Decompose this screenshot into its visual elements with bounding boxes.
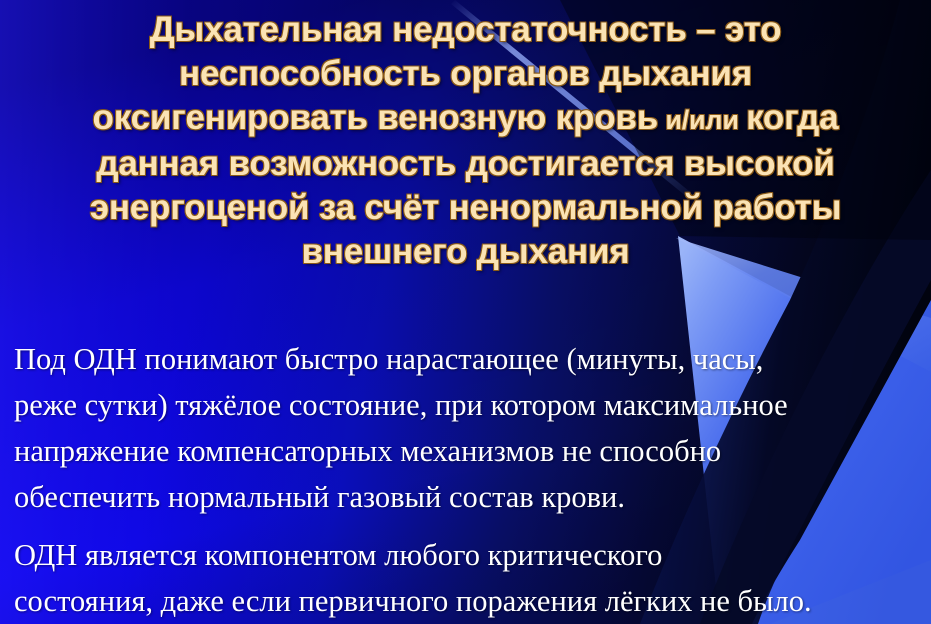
title-line-3-tail: когда	[746, 98, 838, 137]
body-line-4: обеспечить нормальный газовый состав кро…	[14, 474, 922, 520]
title-line-2: неспособность органов дыхания	[0, 52, 931, 96]
title-line-4: данная возможность достигается высокой	[0, 142, 931, 186]
slide-title: Дыхательная недостаточность – это неспос…	[0, 8, 931, 274]
slide-content: Дыхательная недостаточность – это неспос…	[0, 0, 931, 624]
body-line-2: реже сутки) тяжёлое состояние, при котор…	[14, 382, 922, 428]
title-line-3-main: оксигенировать венозную кровь	[93, 98, 658, 137]
body-paragraph-2: ОДН является компонентом любого критичес…	[14, 532, 922, 624]
title-line-6: внешнего дыхания	[0, 230, 931, 274]
body-line-5: ОДН является компонентом любого критичес…	[14, 532, 922, 578]
title-line-5: энергоценой за счёт ненормальной работы	[0, 186, 931, 230]
title-line-1: Дыхательная недостаточность – это	[0, 8, 931, 52]
body-line-6: состояния, даже если первичного поражени…	[14, 578, 922, 624]
title-line-3: оксигенировать венозную кровь и/или когд…	[0, 96, 931, 142]
presentation-slide: Дыхательная недостаточность – это неспос…	[0, 0, 931, 624]
title-line-3-small: и/или	[658, 105, 746, 135]
body-line-1: Под ОДН понимают быстро нарастающее (мин…	[14, 336, 922, 382]
body-paragraph-1: Под ОДН понимают быстро нарастающее (мин…	[14, 336, 922, 520]
slide-body: Под ОДН понимают быстро нарастающее (мин…	[14, 336, 922, 624]
body-line-3: напряжение компенсаторных механизмов не …	[14, 428, 922, 474]
